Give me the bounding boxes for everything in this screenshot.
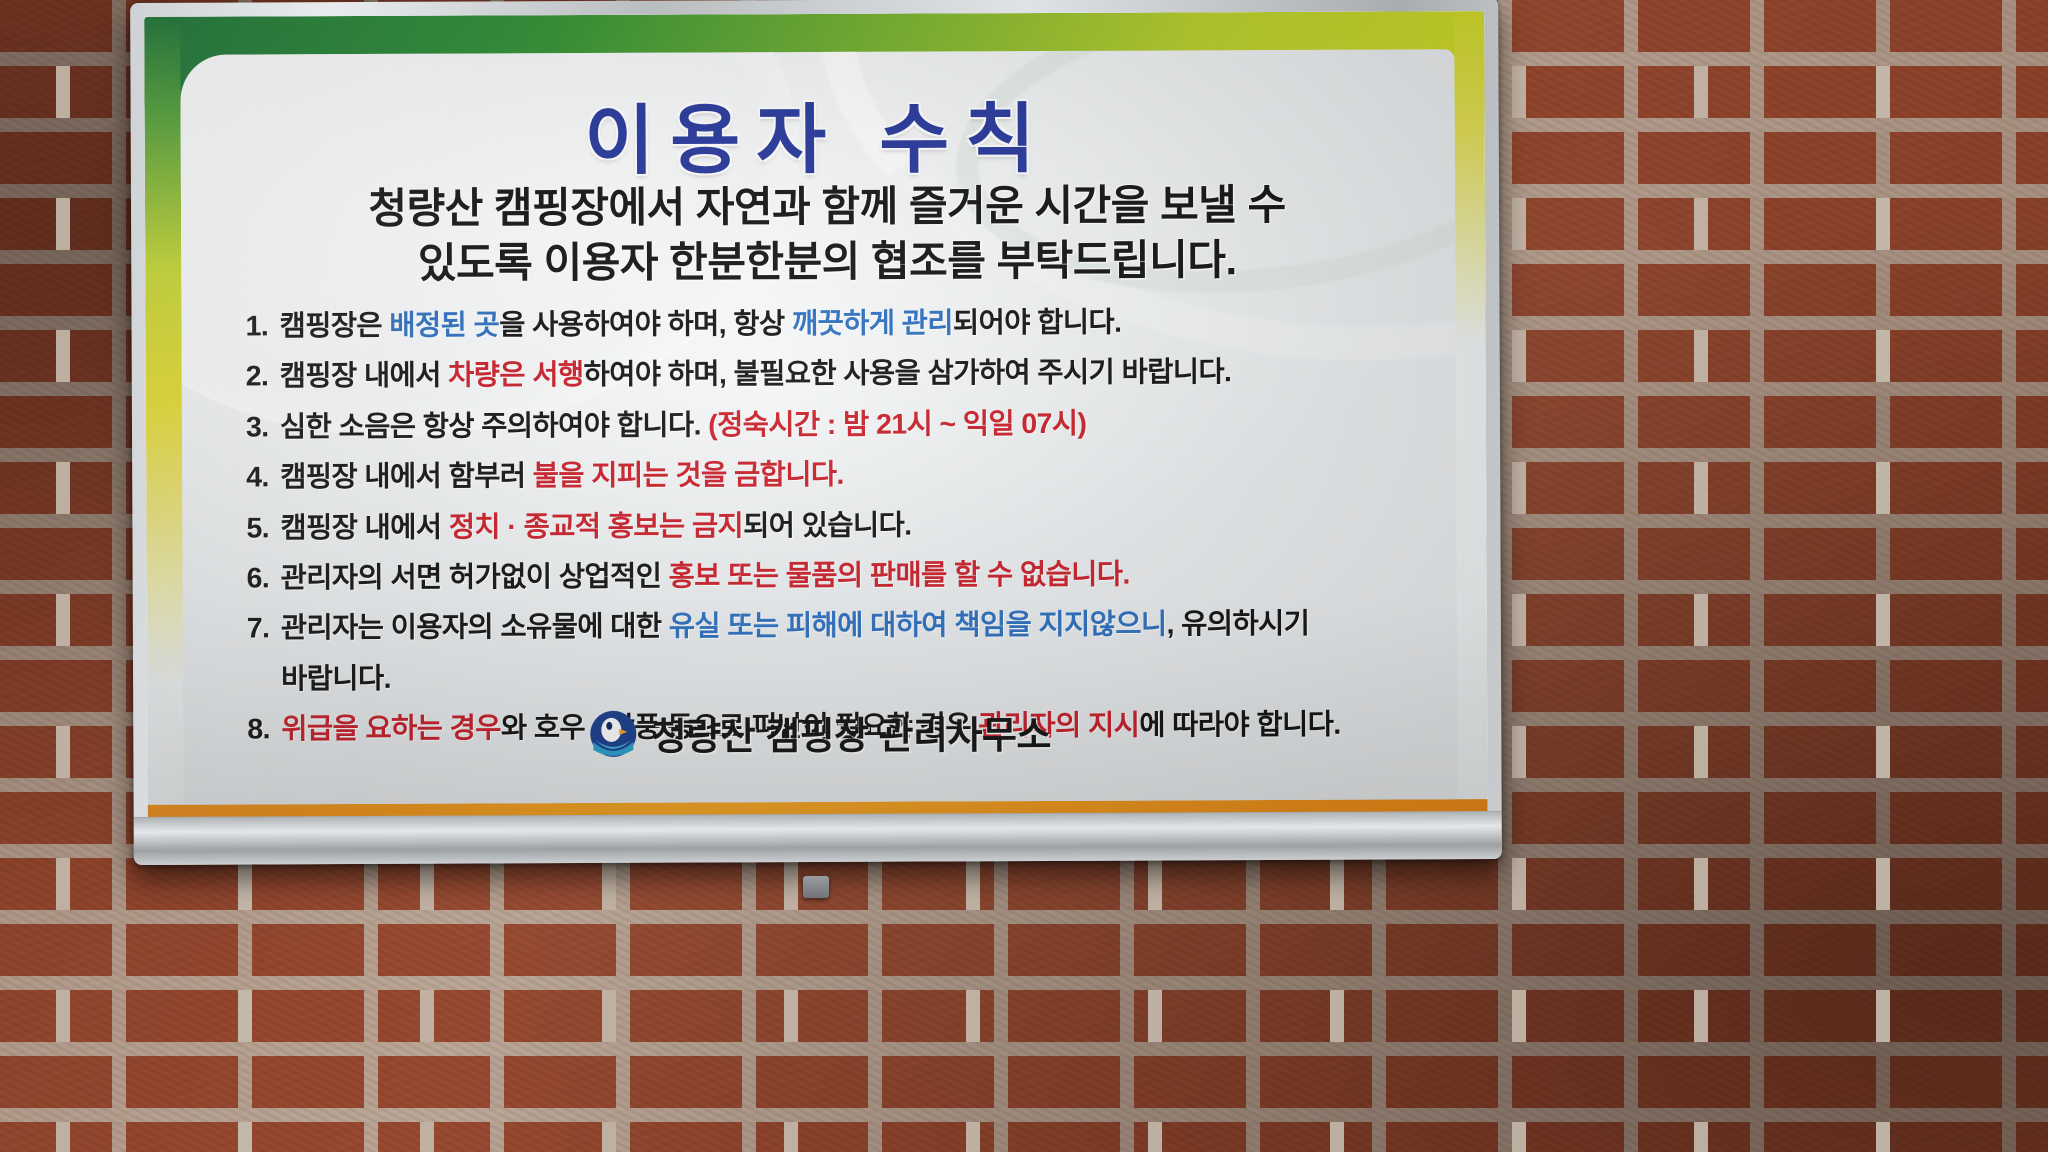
rule-text-span: 하여야 하며, 불필요한 사용을 삼가하여 주시기 바랍니다.	[583, 357, 1231, 392]
rule-text-span: 정치 · 종교적 홍보는 금지	[449, 510, 744, 543]
rule-text: 관리자의 서면 허가없이 상업적인 홍보 또는 물품의 판매를 할 수 없습니다…	[281, 555, 1413, 598]
rule-text-span: 캠핑장은	[279, 310, 389, 342]
rule-text: 관리자는 이용자의 소유물에 대한 유실 또는 피해에 대하여 책임을 지지않으…	[281, 606, 1413, 649]
rule-item: 바랍니다.	[247, 656, 1413, 699]
rule-text: 캠핑장 내에서 정치 · 종교적 홍보는 금지되어 있습니다.	[280, 505, 1412, 548]
sign-subtitle-line-2: 있도록 이용자 한분한분의 협조를 부탁드립니다.	[233, 232, 1421, 292]
rule-text-span: (정숙시간 : 밤 21시 ~ 익일 07시)	[708, 408, 1086, 442]
rule-number: 5.	[246, 510, 280, 548]
rule-text-span: 캠핑장 내에서	[280, 360, 448, 393]
penguin-logo-icon	[590, 709, 638, 757]
rule-number: 6.	[247, 560, 281, 598]
rule-number: 4.	[246, 460, 280, 498]
sign-subtitle-line-1: 청량산 캠핑장에서 자연과 함께 즐거운 시간을 보낼 수	[233, 177, 1421, 237]
sign-title: 이용자 수칙	[180, 75, 1454, 191]
frame-bottom-rail	[134, 811, 1502, 865]
sign-content: 이용자 수칙 청량산 캠핑장에서 자연과 함께 즐거운 시간을 보낼 수 있도록…	[180, 49, 1457, 805]
footer-office-name: 청량산 캠핑장 관리사무소	[652, 704, 1051, 761]
mount-bolt-icon	[803, 876, 829, 898]
rule-number: 7.	[247, 611, 281, 649]
rule-item: 4.캠핑장 내에서 함부러 불을 지피는 것을 금합니다.	[246, 455, 1412, 498]
rule-text-span: 유실 또는 피해에 대하여 책임을 지지않으니	[669, 609, 1167, 643]
rule-item: 2.캠핑장 내에서 차량은 서행하여야 하며, 불필요한 사용을 삼가하여 주시…	[246, 354, 1412, 397]
rule-text-span: 을 사용하여야 하며, 항상	[499, 308, 792, 341]
rules-list: 1.캠핑장은 배정된 곳을 사용하여야 하며, 항상 깨끗하게 관리되어야 합니…	[245, 303, 1413, 762]
rule-number: 2.	[246, 359, 280, 397]
user-rules-sign: 이용자 수칙 청량산 캠핑장에서 자연과 함께 즐거운 시간을 보낼 수 있도록…	[144, 11, 1488, 851]
rule-text: 캠핑장은 배정된 곳을 사용하여야 하며, 항상 깨끗하게 관리되어야 합니다.	[279, 303, 1411, 346]
sign-footer: 청량산 캠핑장 관리사무소	[183, 702, 1457, 763]
rule-text-span: 캠핑장 내에서 함부러	[280, 460, 533, 493]
rule-item: 1.캠핑장은 배정된 곳을 사용하여야 하며, 항상 깨끗하게 관리되어야 합니…	[245, 303, 1411, 346]
rule-text-span: 되어 있습니다.	[743, 509, 911, 542]
rule-text: 심한 소음은 항상 주의하여야 합니다. (정숙시간 : 밤 21시 ~ 익일 …	[280, 404, 1412, 447]
rule-text-span: 깨끗하게 관리	[792, 307, 953, 340]
rule-text-span: 홍보 또는 물품의 판매를 할 수 없습니다.	[669, 559, 1130, 593]
rule-number: 3.	[246, 409, 280, 447]
notice-board-frame: 이용자 수칙 청량산 캠핑장에서 자연과 함께 즐거운 시간을 보낼 수 있도록…	[130, 0, 1502, 865]
rule-item: 6.관리자의 서면 허가없이 상업적인 홍보 또는 물품의 판매를 할 수 없습…	[247, 555, 1413, 598]
rule-item: 3.심한 소음은 항상 주의하여야 합니다. (정숙시간 : 밤 21시 ~ 익…	[246, 404, 1412, 447]
decorative-left-band	[144, 17, 184, 851]
rule-text-span: 관리자는 이용자의 소유물에 대한	[281, 611, 669, 645]
rule-text: 바랍니다.	[281, 656, 1413, 699]
rule-text-span: 캠핑장 내에서	[280, 511, 448, 544]
rule-text-span: 심한 소음은 항상 주의하여야 합니다.	[280, 409, 708, 443]
frame-mount-area	[132, 858, 1500, 882]
rule-number: 1.	[245, 308, 279, 346]
rule-text-span: 불을 지피는 것을 금합니다.	[533, 459, 844, 492]
rule-item: 7.관리자는 이용자의 소유물에 대한 유실 또는 피해에 대하여 책임을 지지…	[247, 606, 1413, 649]
rule-text-span: , 유의하시기	[1167, 608, 1310, 641]
sign-subtitle: 청량산 캠핑장에서 자연과 함께 즐거운 시간을 보낼 수 있도록 이용자 한분…	[233, 177, 1421, 291]
sign-content-plate: 이용자 수칙 청량산 캠핑장에서 자연과 함께 즐거운 시간을 보낼 수 있도록…	[180, 49, 1457, 805]
rule-text: 캠핑장 내에서 차량은 서행하여야 하며, 불필요한 사용을 삼가하여 주시기 …	[280, 354, 1412, 397]
rule-text-span: 배정된 곳	[389, 309, 499, 341]
rule-text: 캠핑장 내에서 함부러 불을 지피는 것을 금합니다.	[280, 455, 1412, 498]
rule-item: 5.캠핑장 내에서 정치 · 종교적 홍보는 금지되어 있습니다.	[246, 505, 1412, 548]
rule-text-span: 차량은 서행	[448, 359, 584, 392]
frame-inner-bevel: 이용자 수칙 청량산 캠핑장에서 자연과 함께 즐거운 시간을 보낼 수 있도록…	[144, 11, 1488, 851]
decorative-right-band	[1454, 11, 1488, 845]
rule-text-span: 바랍니다.	[281, 663, 391, 695]
rule-text-span: 되어야 합니다.	[953, 307, 1121, 340]
rule-text-span: 관리자의 서면 허가없이 상업적인	[281, 561, 669, 595]
